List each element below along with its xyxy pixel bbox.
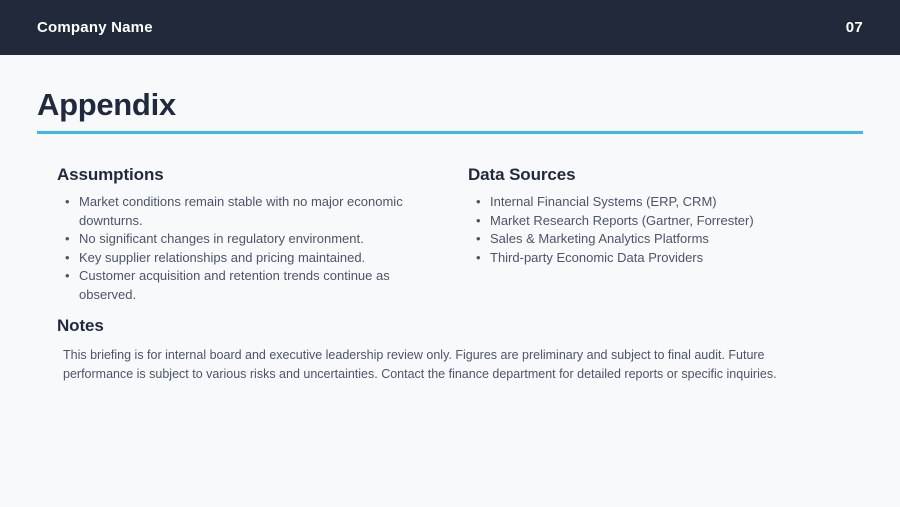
slide-header-bar: Company Name 07 [0,0,900,55]
assumptions-list: Market conditions remain stable with no … [57,193,450,304]
column-data-sources: Data Sources Internal Financial Systems … [450,165,863,312]
list-item: Customer acquisition and retention trend… [79,267,450,304]
column-assumptions: Assumptions Market conditions remain sta… [37,165,450,312]
list-item: Market conditions remain stable with no … [79,193,450,230]
notes-body-text: This briefing is for internal board and … [57,346,808,384]
list-item: Third-party Economic Data Providers [490,249,863,268]
list-item: Market Research Reports (Gartner, Forres… [490,212,863,231]
data-sources-heading: Data Sources [468,165,863,185]
company-name: Company Name [37,19,153,36]
notes-heading: Notes [57,316,847,336]
data-sources-list: Internal Financial Systems (ERP, CRM) Ma… [468,193,863,267]
page-number: 07 [846,19,863,36]
list-item: Sales & Marketing Analytics Platforms [490,230,863,249]
list-item: Internal Financial Systems (ERP, CRM) [490,193,863,212]
list-item: Key supplier relationships and pricing m… [79,249,450,268]
page-title: Appendix [37,88,863,122]
two-column-content: Assumptions Market conditions remain sta… [37,165,863,312]
slide-appendix: Company Name 07 Appendix Assumptions Mar… [0,0,900,507]
list-item: No significant changes in regulatory env… [79,230,450,249]
notes-block: Notes This briefing is for internal boar… [57,316,847,384]
assumptions-heading: Assumptions [57,165,450,185]
title-block: Appendix [37,88,863,134]
title-underline-rule [37,131,863,134]
